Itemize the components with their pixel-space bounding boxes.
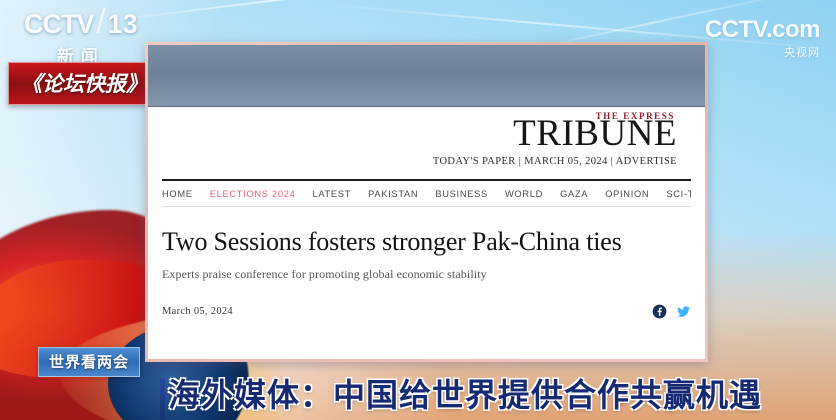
newspaper-page: THE EXPRESS TRIBUNE TODAY'S PAPER | MARC… xyxy=(148,107,705,359)
nav-item-business[interactable]: BUSINESS xyxy=(435,189,488,199)
program-banner: 《论坛快报》 xyxy=(8,62,160,105)
browser-window: THE EXPRESS TRIBUNE TODAY'S PAPER | MARC… xyxy=(148,45,705,359)
lower-third-title: 海外媒体：中国给世界提供合作共赢机遇 xyxy=(168,370,762,416)
social-share-group[interactable] xyxy=(652,304,691,319)
article-headline: Two Sessions fosters stronger Pak-China … xyxy=(162,227,691,257)
article-subheadline: Experts praise conference for promoting … xyxy=(162,267,691,282)
lower-third-title-accent-bar xyxy=(160,378,165,418)
nav-item-home[interactable]: HOME xyxy=(162,189,193,199)
program-banner-label: 《论坛快报》 xyxy=(21,72,147,96)
lower-third-tag: 世界看两会 xyxy=(38,347,140,377)
nav-item-latest[interactable]: LATEST xyxy=(312,189,351,199)
nav-item-world[interactable]: WORLD xyxy=(505,189,543,199)
facebook-icon[interactable] xyxy=(652,304,667,319)
browser-window-frame: THE EXPRESS TRIBUNE TODAY'S PAPER | MARC… xyxy=(145,42,708,362)
nav-item-opinion[interactable]: OPINION xyxy=(605,189,649,199)
nav-item-elections-2024[interactable]: ELECTIONS 2024 xyxy=(210,189,296,199)
masthead-logo[interactable]: THE EXPRESS TRIBUNE TODAY'S PAPER | MARC… xyxy=(433,111,677,167)
article-byline-row: March 05, 2024 xyxy=(162,304,691,319)
nav-item-sci-tech[interactable]: SCI-TECH xyxy=(666,189,691,199)
lower-third-tag-label: 世界看两会 xyxy=(49,353,129,371)
nav-item-gaza[interactable]: GAZA xyxy=(560,189,588,199)
article: Two Sessions fosters stronger Pak-China … xyxy=(162,207,691,319)
site-navigation[interactable]: HOME ELECTIONS 2024 LATEST PAKISTAN BUSI… xyxy=(162,181,691,207)
browser-chrome-bar xyxy=(148,45,705,107)
masthead-meta[interactable]: TODAY'S PAPER | MARCH 05, 2024 | ADVERTI… xyxy=(433,156,677,167)
nav-item-pakistan[interactable]: PAKISTAN xyxy=(368,189,418,199)
twitter-icon[interactable] xyxy=(676,304,691,319)
masthead: THE EXPRESS TRIBUNE TODAY'S PAPER | MARC… xyxy=(162,107,691,179)
masthead-title: TRIBUNE xyxy=(433,115,677,154)
article-date: March 05, 2024 xyxy=(162,306,233,317)
broadcast-screen: CCTV 13 新闻 CCTV.com 央视网 《论坛快报》 THE EXPRE… xyxy=(0,0,836,420)
